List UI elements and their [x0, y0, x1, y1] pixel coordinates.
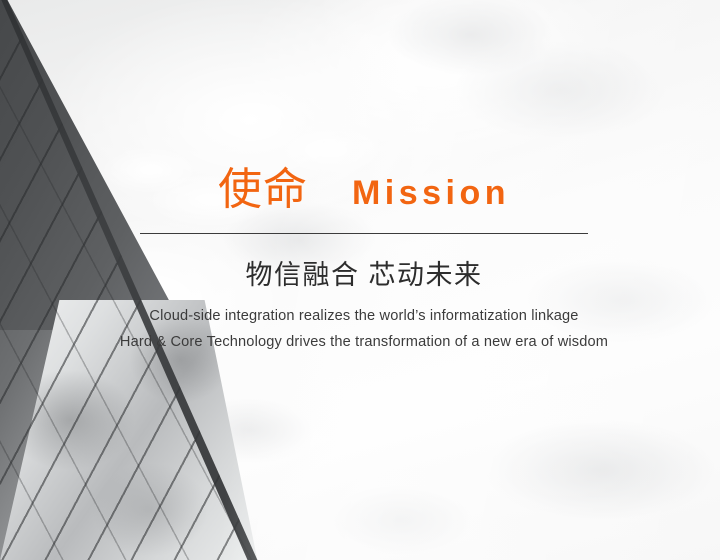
headline-chinese: 使命: [218, 168, 308, 212]
tagline-line-2: Hard & Core Technology drives the transf…: [60, 329, 668, 355]
subtitle-chinese: 物信融合 芯动未来: [140, 259, 588, 291]
tagline-group: Cloud-side integration realizes the worl…: [60, 303, 668, 355]
headline-english: Mission: [352, 176, 510, 210]
banner-content: 使命 Mission 物信融合 芯动未来 Cloud-side integrat…: [0, 0, 720, 560]
headline-group: 使命 Mission: [140, 168, 588, 212]
mission-banner: 使命 Mission 物信融合 芯动未来 Cloud-side integrat…: [0, 0, 720, 560]
tagline-line-1: Cloud-side integration realizes the worl…: [60, 303, 668, 329]
headline-divider-rule: [140, 233, 588, 234]
